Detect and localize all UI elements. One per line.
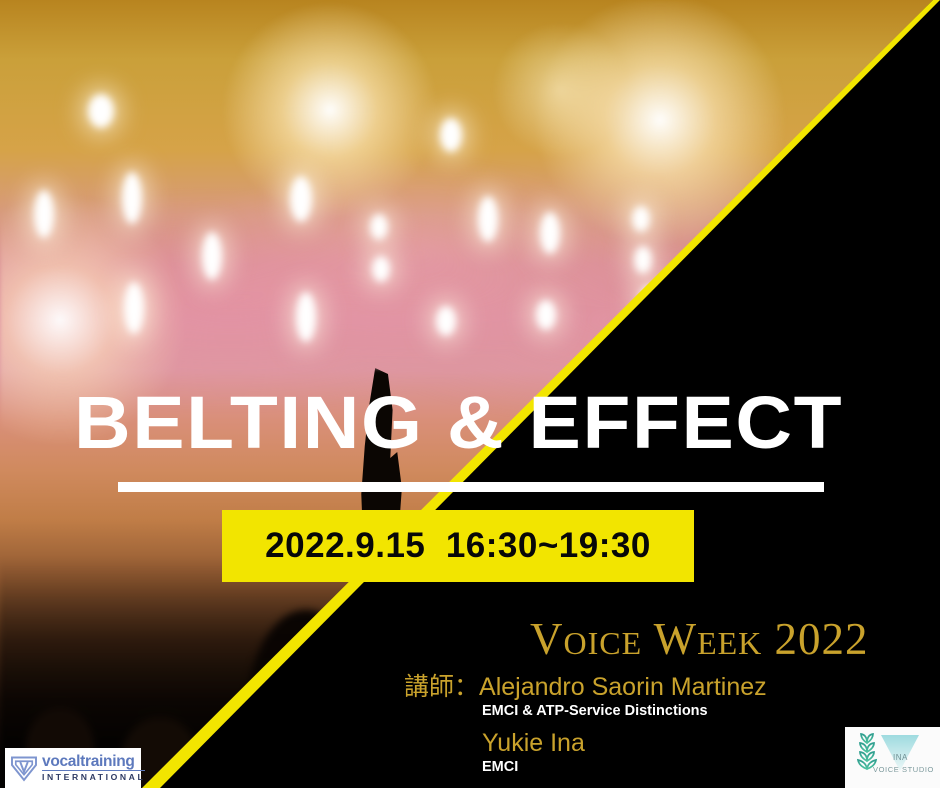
lecturer-primary-line: 講師：Alejandro Saorin Martinez (404, 672, 834, 702)
lecturer-name-1: Alejandro Saorin Martinez (479, 673, 767, 701)
vocaltraining-subtitle: INTERNATIONAL (42, 773, 145, 782)
bokeh-light (632, 206, 650, 232)
lecturer-credentials-2: EMCI (482, 758, 834, 777)
bokeh-light (536, 300, 556, 330)
bokeh-light (370, 214, 388, 240)
bokeh-light (122, 172, 142, 224)
lecturer-block: 講師：Alejandro Saorin Martinez EMCI & ATP-… (404, 672, 834, 777)
bokeh-light (124, 282, 144, 334)
bokeh-light (290, 176, 312, 222)
bokeh-light (436, 306, 456, 336)
date-time-banner: 2022.9.15 16:30~19:30 (222, 510, 694, 582)
date-time-text: 2022.9.15 16:30~19:30 (265, 526, 651, 566)
title-underline-rule (118, 482, 824, 492)
vocaltraining-wordmark: vocaltraining INTERNATIONAL (42, 754, 145, 782)
v-shield-icon (9, 753, 39, 783)
page-title: BELTING & EFFECT (74, 383, 922, 463)
bokeh-light (634, 246, 652, 274)
ina-logo-name: INA (893, 753, 908, 762)
bokeh-light (540, 212, 560, 254)
poster-canvas: BELTING & EFFECT 2022.9.15 16:30~19:30 V… (0, 0, 940, 788)
bokeh-light (440, 118, 462, 152)
lecturer-label: 講師： (404, 673, 479, 701)
vocaltraining-international-logo: vocaltraining INTERNATIONAL (5, 748, 141, 788)
bokeh-light (34, 190, 54, 238)
ina-logo-subtitle: VOICE STUDIO (873, 765, 934, 774)
bokeh-light (478, 196, 498, 242)
ina-voice-studio-logo: INA VOICE STUDIO (845, 727, 940, 788)
vocaltraining-name: vocaltraining (42, 754, 145, 772)
bokeh-light (88, 94, 114, 128)
lecturer-name-2: Yukie Ina (482, 728, 834, 758)
bokeh-light (372, 256, 390, 282)
bokeh-light (296, 292, 316, 342)
lecturer-credentials-1: EMCI & ATP-Service Distinctions (482, 702, 834, 721)
bokeh-light (202, 232, 222, 280)
event-series-title: Voice Week 2022 (530, 613, 869, 665)
